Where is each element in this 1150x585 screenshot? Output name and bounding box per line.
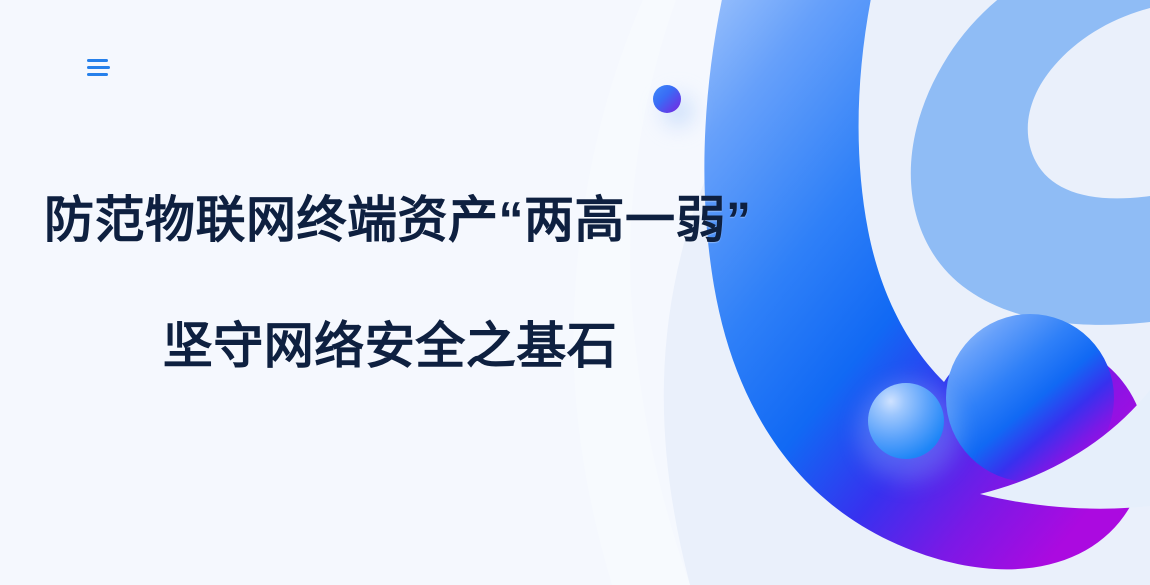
title-line-1: 防范物联网终端资产“两高一弱”	[0, 186, 736, 254]
pale-curve-bottom-right	[980, 390, 1150, 509]
hamburger-menu-icon-bar-2	[87, 66, 110, 69]
slide-canvas: 防范物联网终端资产“两高一弱” 坚守网络安全之基石	[0, 0, 1150, 585]
hamburger-menu-icon-bar-3	[87, 73, 108, 76]
swoosh-purple-cap	[946, 314, 1114, 482]
title-line-2: 坚守网络安全之基石	[0, 312, 736, 380]
slide-header	[0, 0, 1150, 120]
large-blue-sphere	[868, 383, 944, 459]
hamburger-menu-icon-bar-1	[87, 59, 108, 62]
hamburger-menu-button[interactable]	[78, 48, 118, 86]
title-block: 防范物联网终端资产“两高一弱” 坚守网络安全之基石	[0, 186, 736, 380]
large-sphere-glow	[855, 378, 965, 488]
